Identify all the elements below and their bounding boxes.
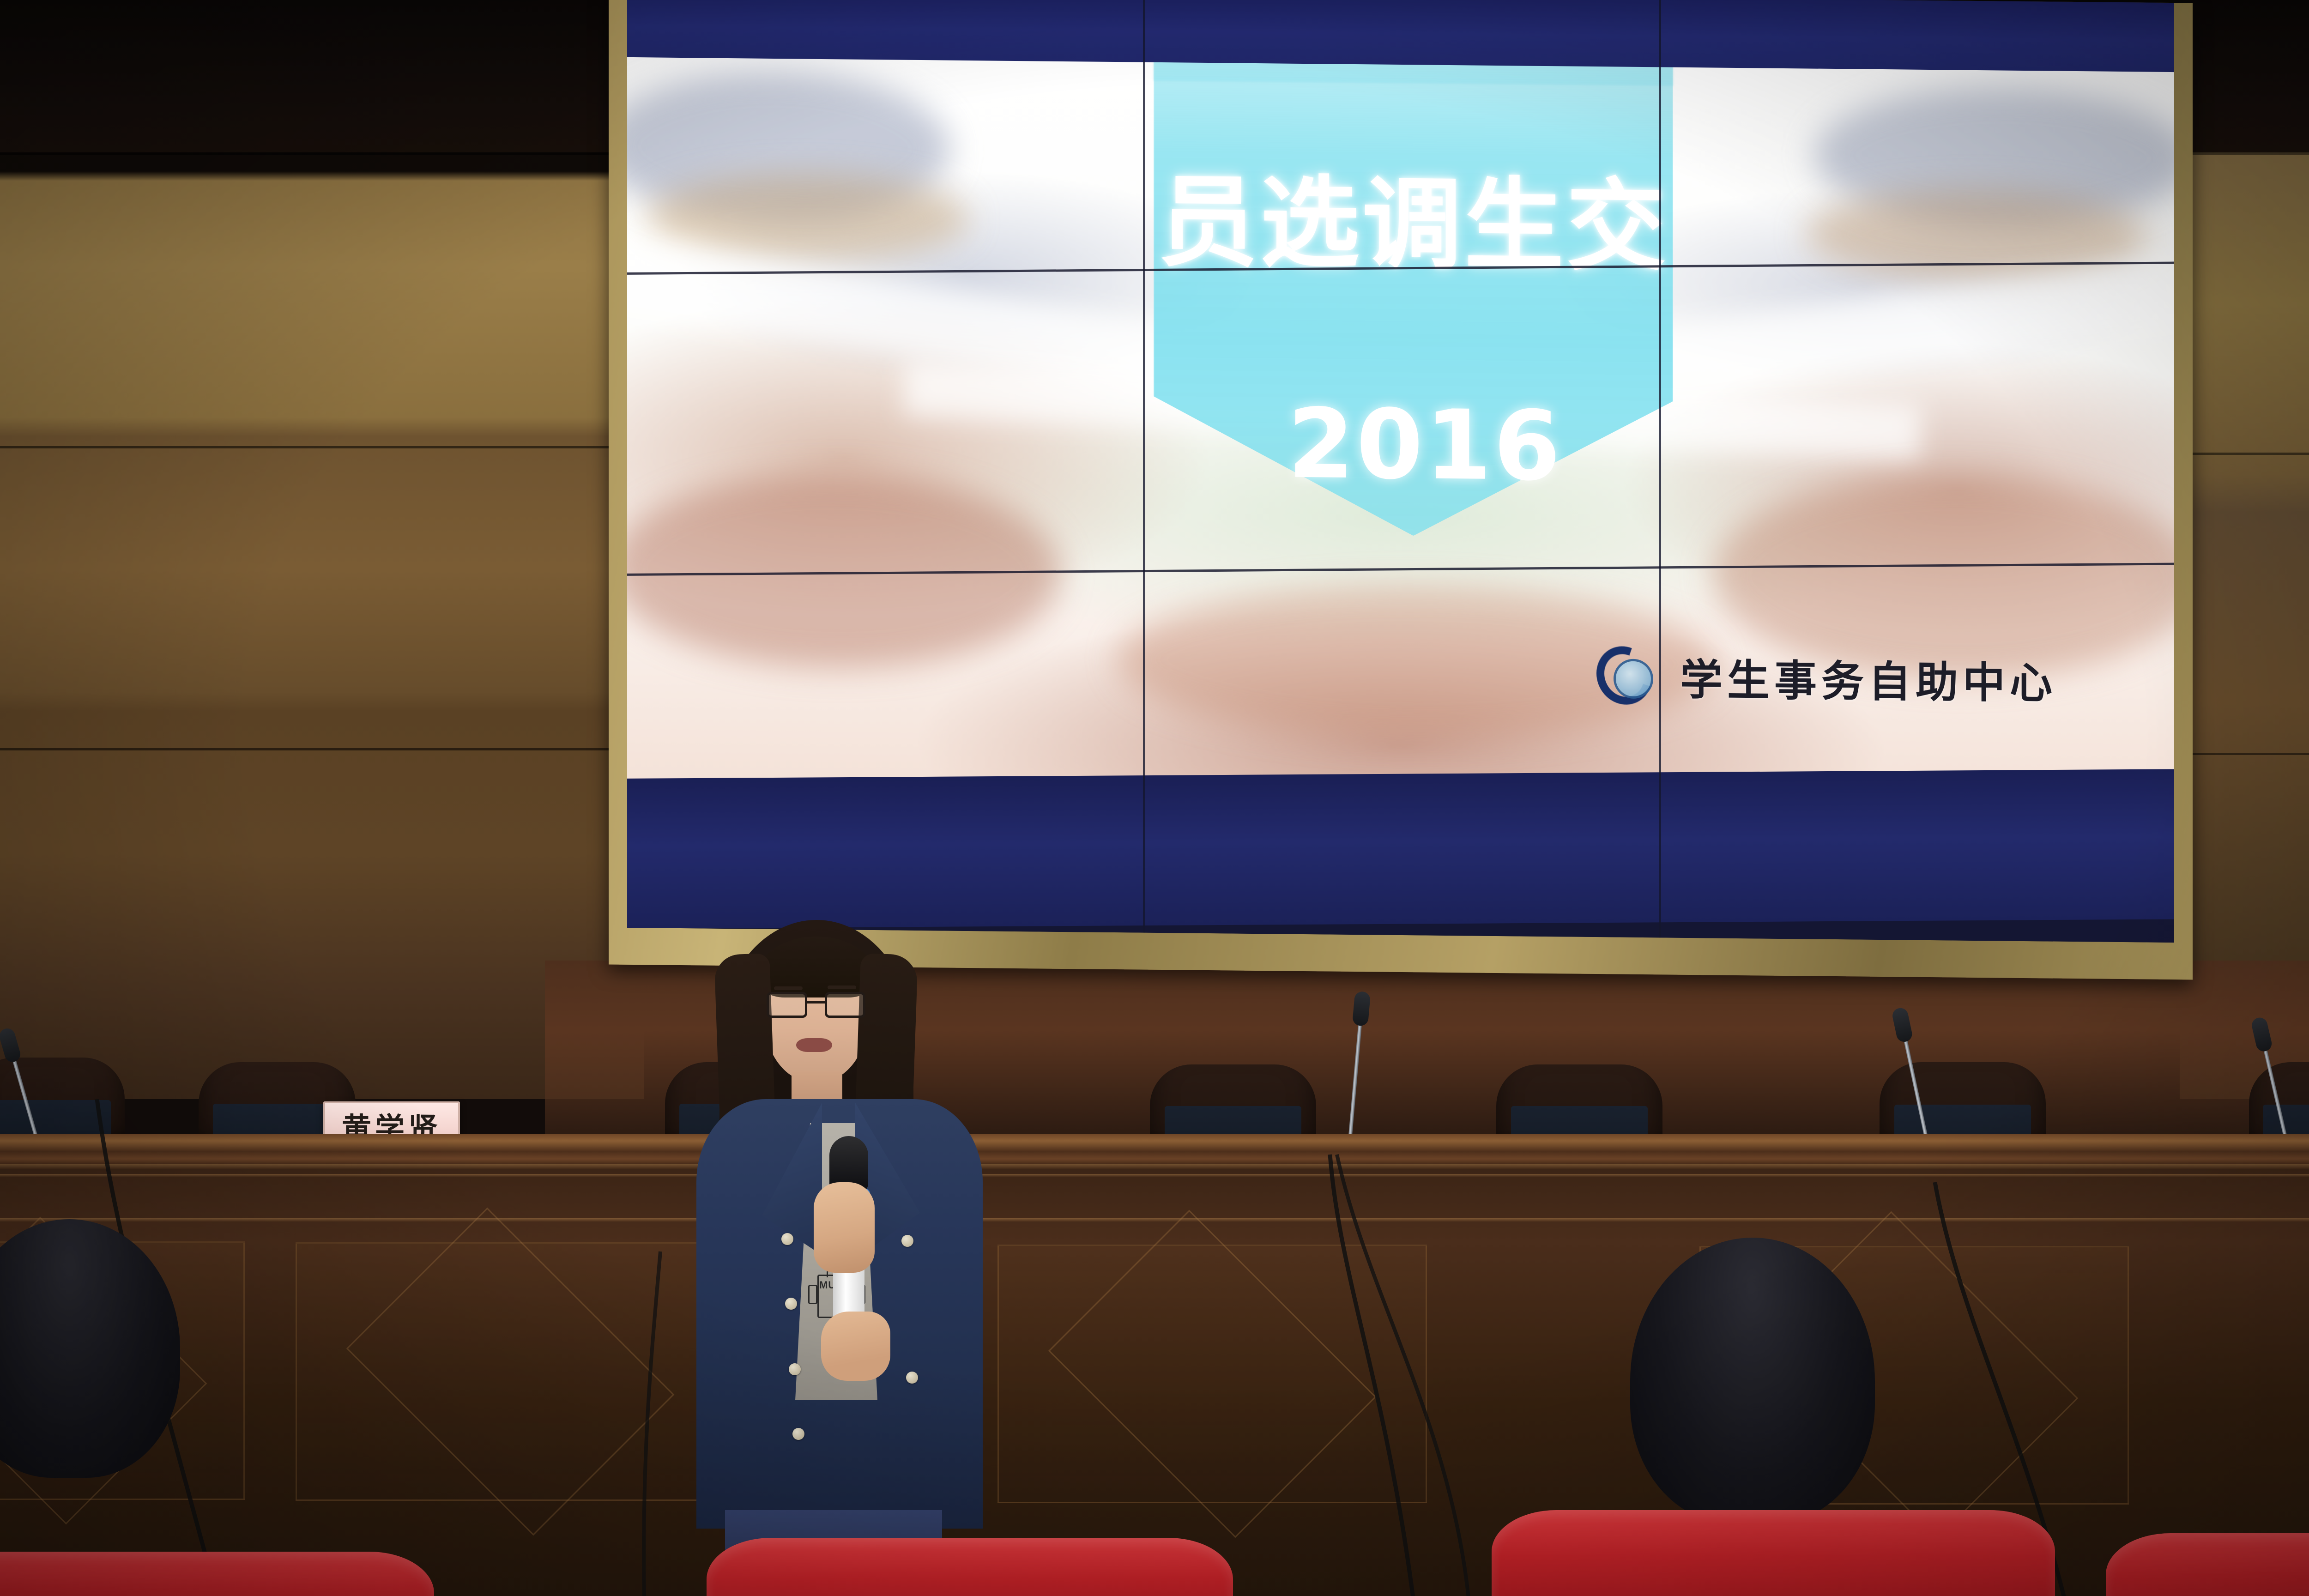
right-wood-wall xyxy=(2180,152,2309,1099)
video-wall-frame: 员选调生交 2016 学生事务自助中心 xyxy=(609,0,2193,979)
auditorium-seat[interactable] xyxy=(707,1538,1233,1596)
panel-seam-vertical-1 xyxy=(1143,0,1145,933)
auditorium-seat[interactable] xyxy=(0,1552,434,1596)
speaker-glasses xyxy=(767,992,865,1018)
circle-globe-logo-icon xyxy=(1597,643,1662,708)
speaker-hand-lower xyxy=(821,1312,890,1381)
slide-organization: 学生事务自助中心 xyxy=(1597,643,2057,712)
slide-letterbox-bottom xyxy=(627,769,2174,928)
organization-name: 学生事务自助中心 xyxy=(1680,645,2057,710)
panel-seam-vertical-2 xyxy=(1659,0,1661,937)
slide-year: 2016 xyxy=(1287,396,1562,495)
auditorium-photo: 员选调生交 2016 学生事务自助中心 xyxy=(0,0,2309,1596)
slide-title: 员选调生交 xyxy=(1158,172,1731,277)
auditorium-seat[interactable] xyxy=(1492,1510,2055,1596)
left-wood-wall xyxy=(0,152,644,1099)
video-wall-screen[interactable]: 员选调生交 2016 学生事务自助中心 xyxy=(627,0,2174,943)
speaker-hand-upper xyxy=(814,1182,875,1273)
auditorium-seat[interactable] xyxy=(2106,1533,2309,1596)
speaker-person: MUSIC xyxy=(693,914,988,1596)
audience-head xyxy=(1630,1238,1875,1524)
speaker-mouth xyxy=(796,1038,832,1052)
